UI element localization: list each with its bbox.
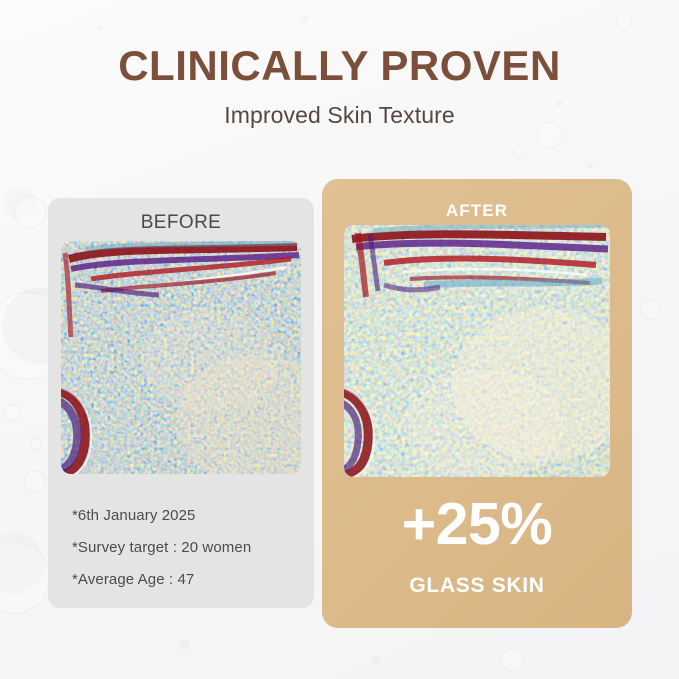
after-label: AFTER [322,201,632,221]
bubble-decoration [30,438,42,450]
note-line: *Survey target : 20 women [72,540,302,555]
before-panel: BEFORE [48,198,314,608]
bubble-decoration [500,648,524,672]
bubble-decoration [588,163,594,169]
page-title: CLINICALLY PROVEN [0,44,679,88]
before-notes: *6th January 2025 *Survey target : 20 wo… [72,508,302,604]
stat-value: +25% [322,495,632,554]
bubble-decoration [24,470,46,492]
bubble-decoration [4,404,21,421]
stat-label: GLASS SKIN [322,574,632,598]
skin-texture-micrograph-after [344,225,610,477]
before-label: BEFORE [48,212,314,234]
bubble-decoration [14,196,46,228]
page-subtitle: Improved Skin Texture [0,102,679,129]
after-stat-block: +25% GLASS SKIN [322,495,632,598]
bubble-decoration [372,656,380,664]
after-panel: AFTER [322,179,632,628]
note-line: *Average Age : 47 [72,572,302,587]
note-line: *6th January 2025 [72,508,302,523]
bubble-decoration [180,640,190,650]
bubble-decoration [640,300,660,320]
promo-graphic-root: CLINICALLY PROVEN Improved Skin Texture … [0,0,679,679]
header: CLINICALLY PROVEN Improved Skin Texture [0,0,679,129]
bubble-decoration [0,542,50,614]
skin-texture-micrograph-before [61,241,301,474]
bubble-decoration [512,146,524,158]
